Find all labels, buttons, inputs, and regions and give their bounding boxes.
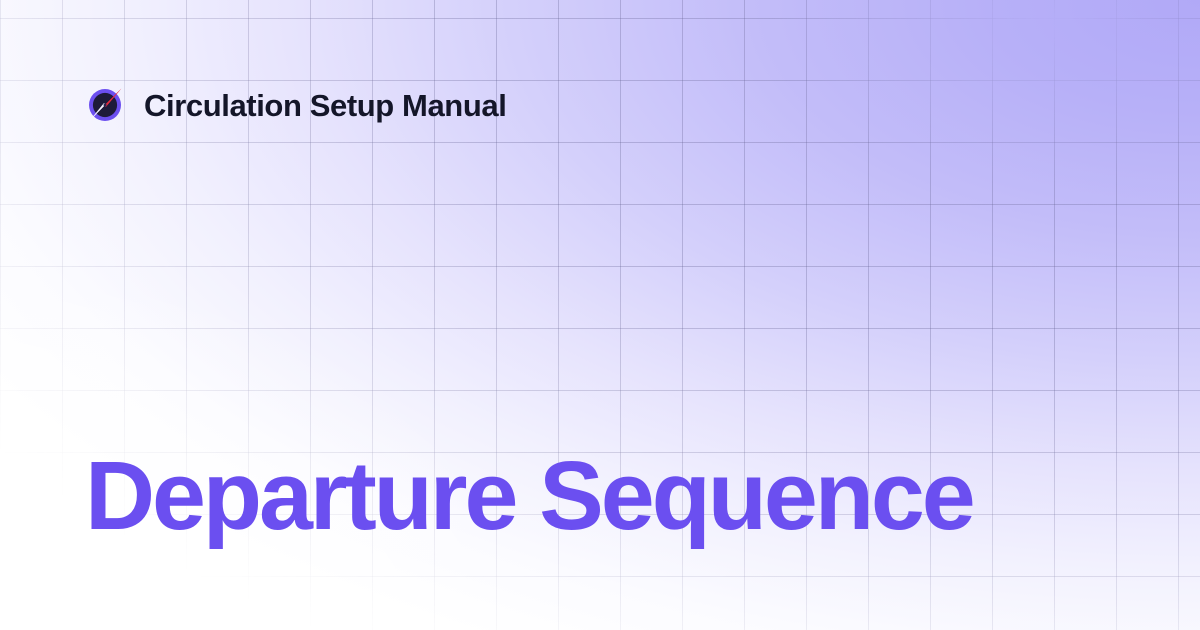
- page-title: Departure Sequence: [85, 447, 1125, 544]
- brand-lockup: Circulation Setup Manual: [85, 83, 506, 127]
- hero-block: Departure Sequence: [85, 447, 1125, 544]
- compass-icon: [85, 85, 125, 125]
- share-card-canvas: Circulation Setup Manual Departure Seque…: [0, 0, 1200, 630]
- brand-name-label: Circulation Setup Manual: [144, 90, 506, 121]
